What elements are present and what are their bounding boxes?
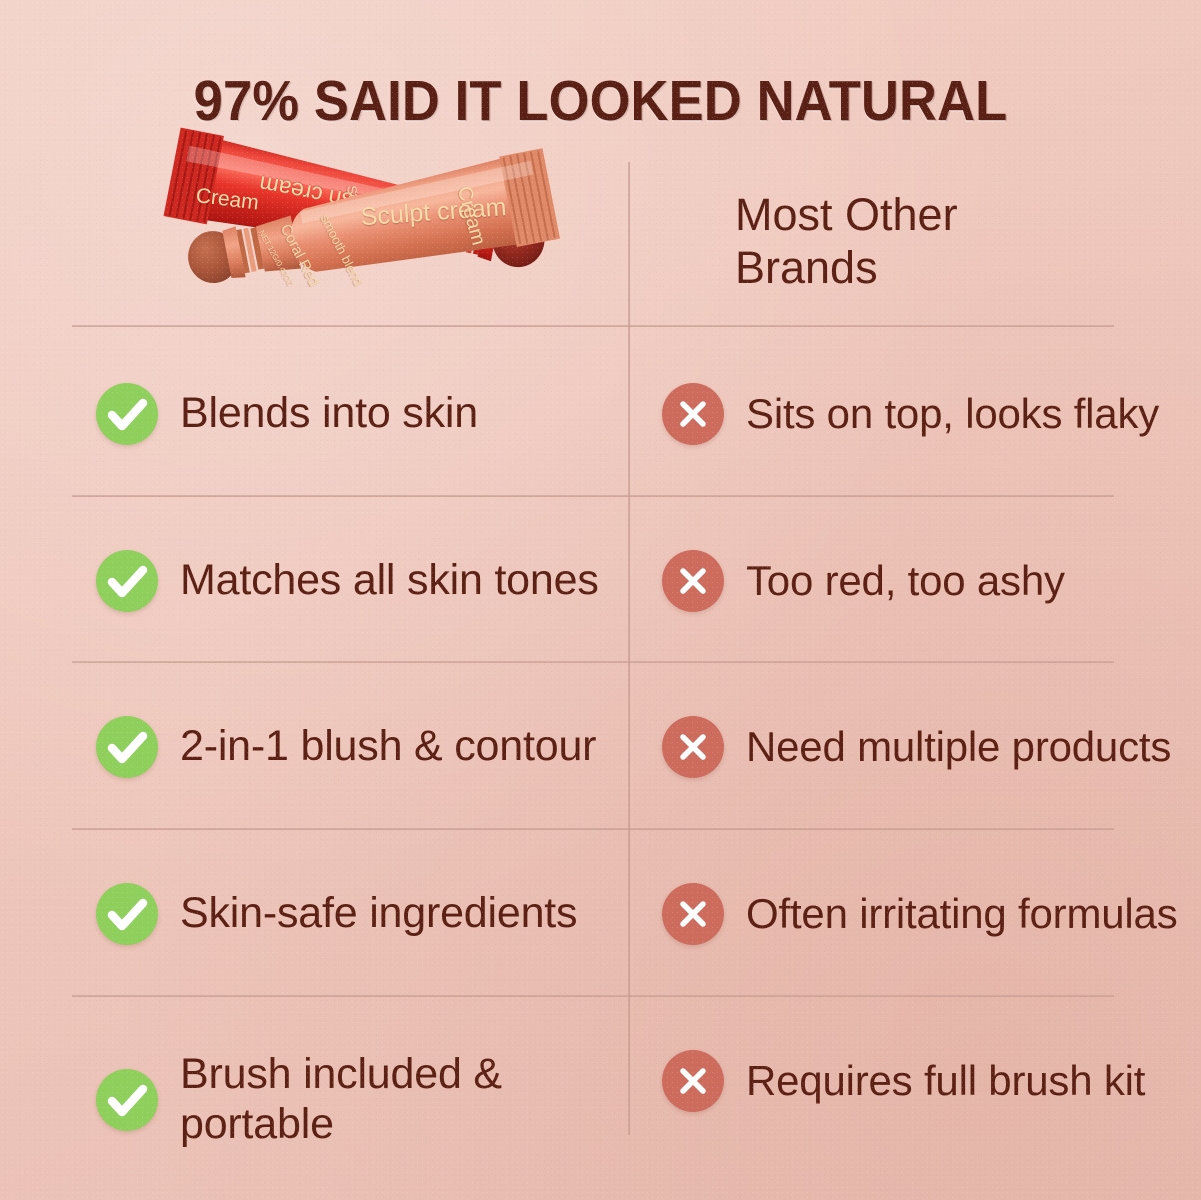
comparison-text-con: Too red, too ashy	[746, 557, 1065, 606]
check-circle-icon	[96, 1069, 158, 1131]
cross-circle-icon	[662, 883, 724, 945]
row-divider	[72, 828, 1114, 830]
row-divider	[72, 661, 1114, 663]
row-divider	[72, 495, 1114, 497]
comparison-text-pro: Skin-safe ingredients	[180, 889, 577, 939]
cross-circle-icon	[662, 716, 724, 778]
comparison-text-pro: Matches all skin tones	[180, 556, 599, 606]
comparison-cell-pro: 2-in-1 blush & contour	[96, 716, 616, 778]
comparison-cell-con: Need multiple products	[662, 716, 1192, 778]
infographic-canvas: 97% SAID IT LOOKED NATURAL	[0, 0, 1201, 1200]
comparison-text-pro: Brush included & portable	[180, 1050, 616, 1150]
check-circle-icon	[96, 383, 158, 445]
comparison-cell-con: Requires full brush kit	[662, 1050, 1192, 1112]
cross-circle-icon	[662, 1050, 724, 1112]
cross-circle-icon	[662, 550, 724, 612]
comparison-cell-pro: Brush included & portable	[96, 1050, 616, 1150]
comparison-cell-con: Often irritating formulas	[662, 883, 1192, 945]
cross-circle-icon	[662, 383, 724, 445]
comparison-text-pro: 2-in-1 blush & contour	[180, 722, 596, 772]
comparison-text-con: Often irritating formulas	[746, 890, 1178, 939]
column-header-other-brands: Most Other Brands	[735, 188, 1095, 294]
comparison-cell-con: Too red, too ashy	[662, 550, 1192, 612]
comparison-text-con: Requires full brush kit	[746, 1057, 1145, 1106]
row-divider	[72, 995, 1114, 997]
check-circle-icon	[96, 883, 158, 945]
comparison-cell-con: Sits on top, looks flaky	[662, 383, 1192, 445]
comparison-cell-pro: Blends into skin	[96, 383, 616, 445]
comparison-text-con: Need multiple products	[746, 723, 1171, 772]
comparison-text-con: Sits on top, looks flaky	[746, 390, 1159, 439]
comparison-cell-pro: Skin-safe ingredients	[96, 883, 616, 945]
row-divider	[72, 325, 1114, 327]
product-image-group: Cream Blush cream Soft sweet Cherry NET …	[0, 0, 440, 260]
comparison-cell-pro: Matches all skin tones	[96, 550, 616, 612]
column-divider	[628, 162, 630, 1135]
check-circle-icon	[96, 550, 158, 612]
comparison-text-pro: Blends into skin	[180, 389, 478, 439]
check-circle-icon	[96, 716, 158, 778]
